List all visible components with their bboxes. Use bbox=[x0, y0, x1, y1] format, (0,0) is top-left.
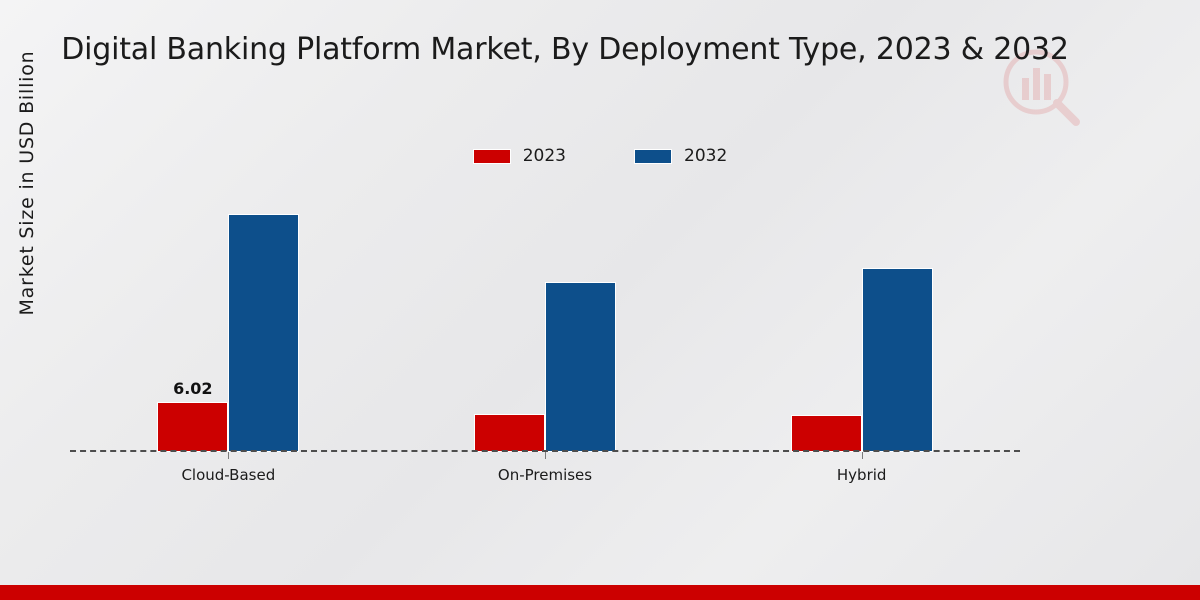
legend-item-2023[interactable]: 2023 bbox=[473, 146, 566, 166]
footer-accent-stripe bbox=[0, 585, 1200, 600]
bars-hybrid bbox=[791, 180, 933, 452]
bar-2032-cloud-based[interactable] bbox=[228, 214, 299, 452]
bar-group-hybrid: Hybrid bbox=[703, 180, 1020, 452]
bar-group-cloud-based: 6.02 Cloud-Based bbox=[70, 180, 387, 452]
x-axis-tick-hybrid bbox=[862, 452, 863, 459]
x-axis-tick-on-premises bbox=[545, 452, 546, 459]
x-axis-tick-cloud-based bbox=[228, 452, 229, 459]
legend-swatch-2032 bbox=[634, 149, 672, 164]
y-axis-label: Market Size in USD Billion bbox=[16, 8, 38, 358]
bar-2032-on-premises[interactable] bbox=[545, 282, 616, 452]
bar-2023-cloud-based[interactable]: 6.02 bbox=[157, 402, 228, 452]
bar-2023-on-premises[interactable] bbox=[474, 414, 545, 452]
chart-figure: Digital Banking Platform Market, By Depl… bbox=[0, 0, 1200, 600]
x-axis-label-hybrid: Hybrid bbox=[837, 466, 887, 484]
bar-groups: 6.02 Cloud-Based bbox=[70, 180, 1020, 452]
x-axis-baseline bbox=[70, 450, 1020, 452]
bar-2032-hybrid[interactable] bbox=[862, 268, 933, 452]
bars-cloud-based: 6.02 bbox=[157, 180, 299, 452]
legend-label-2032: 2032 bbox=[684, 146, 727, 166]
bar-value-label-2023-cloud-based: 6.02 bbox=[173, 379, 212, 398]
plot-area: 6.02 Cloud-Based bbox=[70, 180, 1020, 452]
x-axis-label-on-premises: On-Premises bbox=[498, 466, 592, 484]
legend-swatch-2023 bbox=[473, 149, 511, 164]
bars-on-premises bbox=[474, 180, 616, 452]
page-title: Digital Banking Platform Market, By Depl… bbox=[0, 32, 1130, 67]
bar-2023-hybrid[interactable] bbox=[791, 415, 862, 452]
bar-group-on-premises: On-Premises bbox=[387, 180, 704, 452]
x-axis-label-cloud-based: Cloud-Based bbox=[181, 466, 275, 484]
legend-label-2023: 2023 bbox=[523, 146, 566, 166]
legend-item-2032[interactable]: 2032 bbox=[634, 146, 727, 166]
chart-legend: 2023 2032 bbox=[0, 146, 1200, 166]
